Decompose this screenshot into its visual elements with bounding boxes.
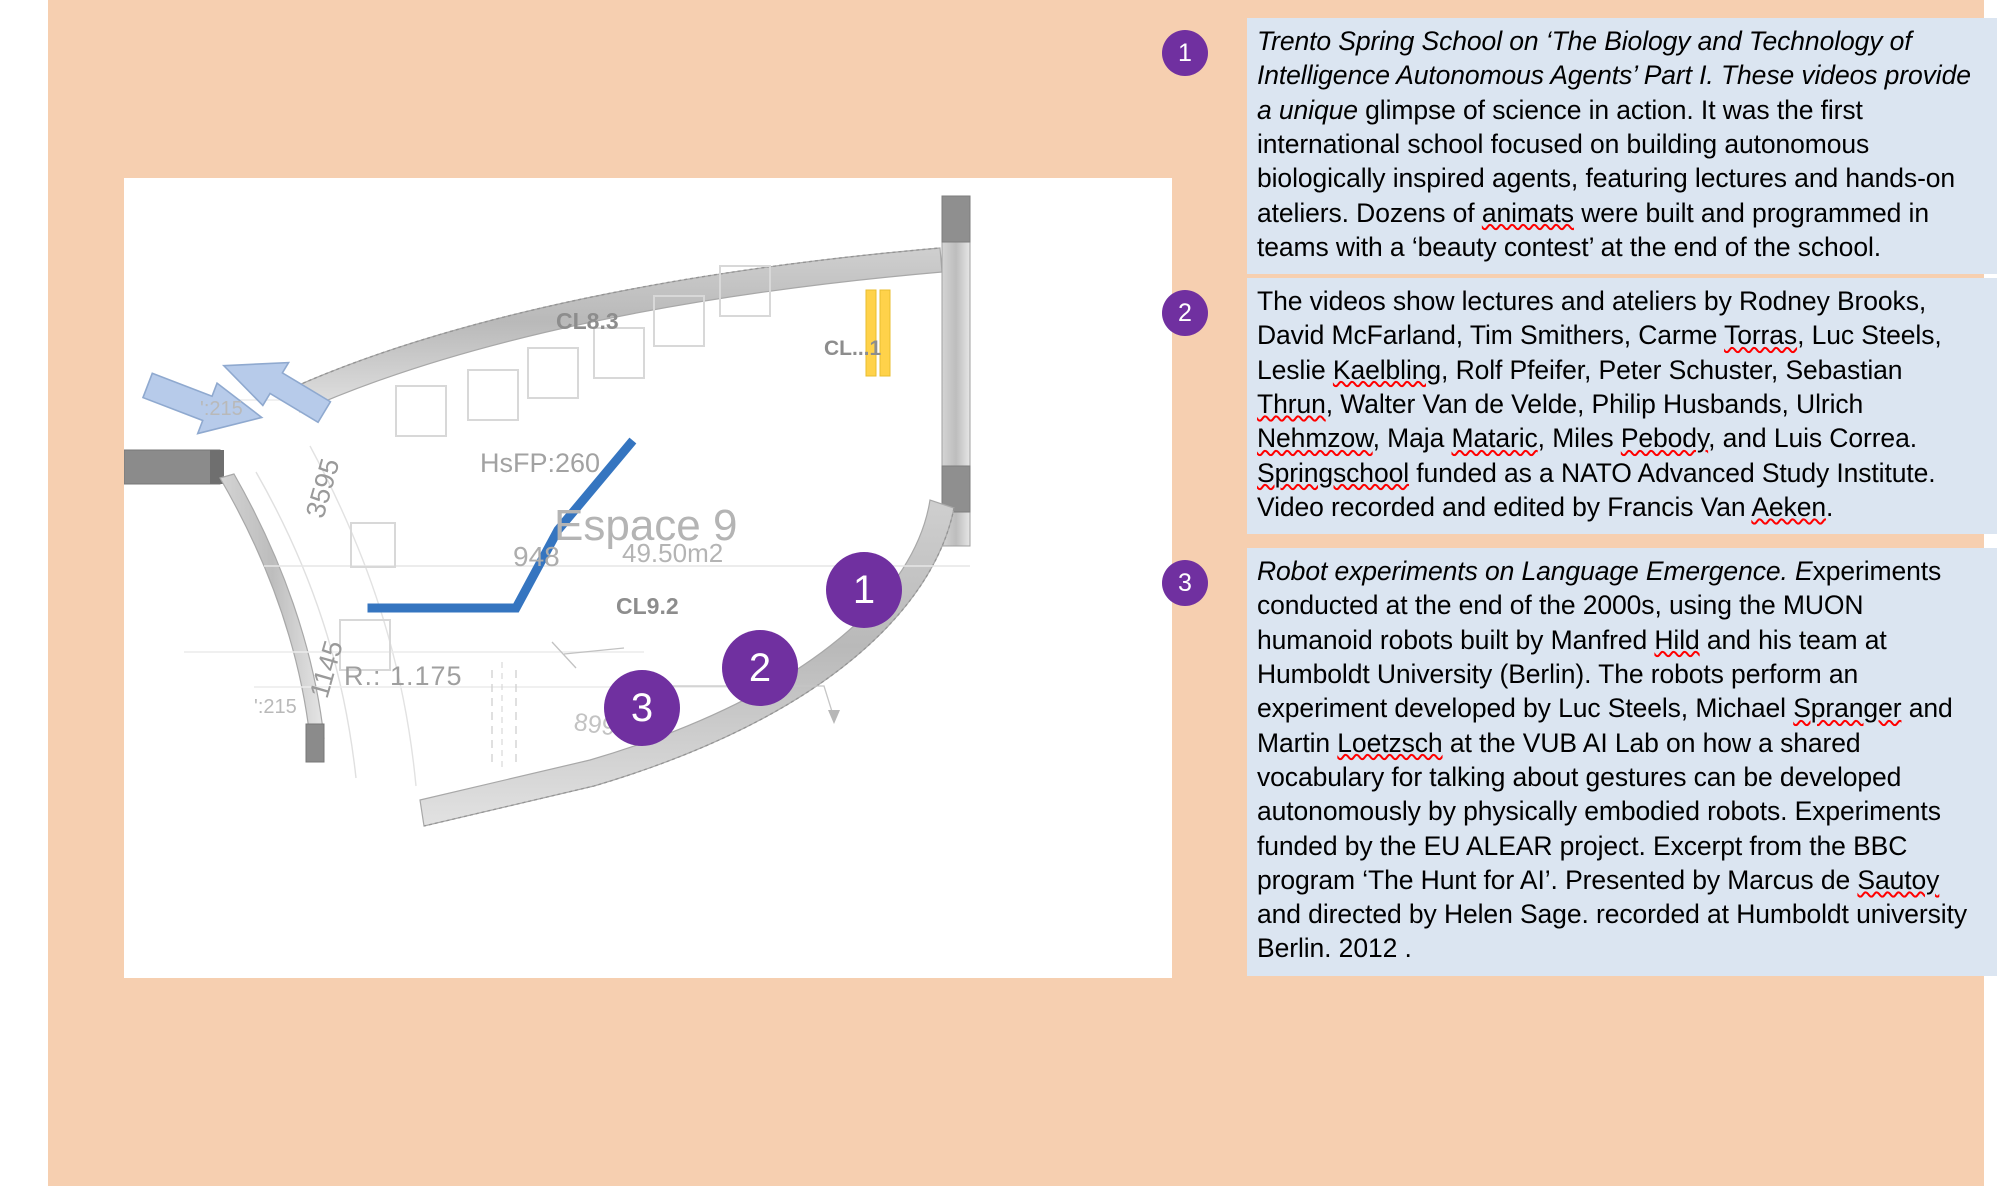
label-room-area: 49.50m2 xyxy=(622,538,723,569)
note-item-2: 2 The videos show lectures and ateliers … xyxy=(1162,278,1997,534)
label-cl92: CL9.2 xyxy=(616,593,679,620)
note-badge-1[interactable]: 1 xyxy=(1162,30,1208,76)
yellow-marker xyxy=(866,290,876,376)
wall-left-stub xyxy=(124,450,220,484)
yellow-marker xyxy=(880,290,890,376)
plan-marker-1[interactable]: 1 xyxy=(826,552,902,628)
wall-right-cap xyxy=(942,196,970,242)
radius-tick xyxy=(552,642,576,668)
label-dim-215-lower: ':215 xyxy=(254,696,297,719)
grid-square xyxy=(396,386,446,436)
label-cl83: CL8.3 xyxy=(556,308,619,335)
label-hsfp: HsFP:260 xyxy=(480,448,600,479)
note-badge-2[interactable]: 2 xyxy=(1162,290,1208,336)
plan-marker-2[interactable]: 2 xyxy=(722,630,798,706)
note-item-3: 3 Robot experiments on Language Emergenc… xyxy=(1162,548,1997,976)
slide-canvas: CL8.3 CL9.2 CL...1 HsFP:260 Espace 9 49.… xyxy=(0,0,2000,1196)
note-badge-3[interactable]: 3 xyxy=(1162,560,1208,606)
yellow-markers xyxy=(866,290,890,376)
note-text-3: Robot experiments on Language Emergence.… xyxy=(1247,548,1997,976)
plan-marker-3[interactable]: 3 xyxy=(604,670,680,746)
label-radius: R.: 1.175 xyxy=(344,661,463,692)
note-text-2: The videos show lectures and ateliers by… xyxy=(1247,278,1997,534)
notes-column: 1 Trento Spring School on ‘The Biology a… xyxy=(1162,0,2000,1196)
floor-plan-drawing xyxy=(124,178,1172,978)
wall-left-curve-end xyxy=(306,724,324,762)
note-text-1: Trento Spring School on ‘The Biology and… xyxy=(1247,18,1997,274)
label-cl1: CL...1 xyxy=(824,337,881,361)
grid-square xyxy=(468,370,518,420)
label-dim-948: 948 xyxy=(513,541,560,573)
blue-arrows xyxy=(138,335,337,453)
radius-leader xyxy=(564,648,624,654)
radius-arrow xyxy=(828,710,840,724)
grid-square xyxy=(528,348,578,398)
note-item-1: 1 Trento Spring School on ‘The Biology a… xyxy=(1162,18,1997,274)
floor-plan-panel: CL8.3 CL9.2 CL...1 HsFP:260 Espace 9 49.… xyxy=(124,178,1172,978)
label-dim-215-upper: ':215 xyxy=(200,398,243,421)
grid-square xyxy=(594,328,644,378)
left-margin xyxy=(0,0,48,1196)
